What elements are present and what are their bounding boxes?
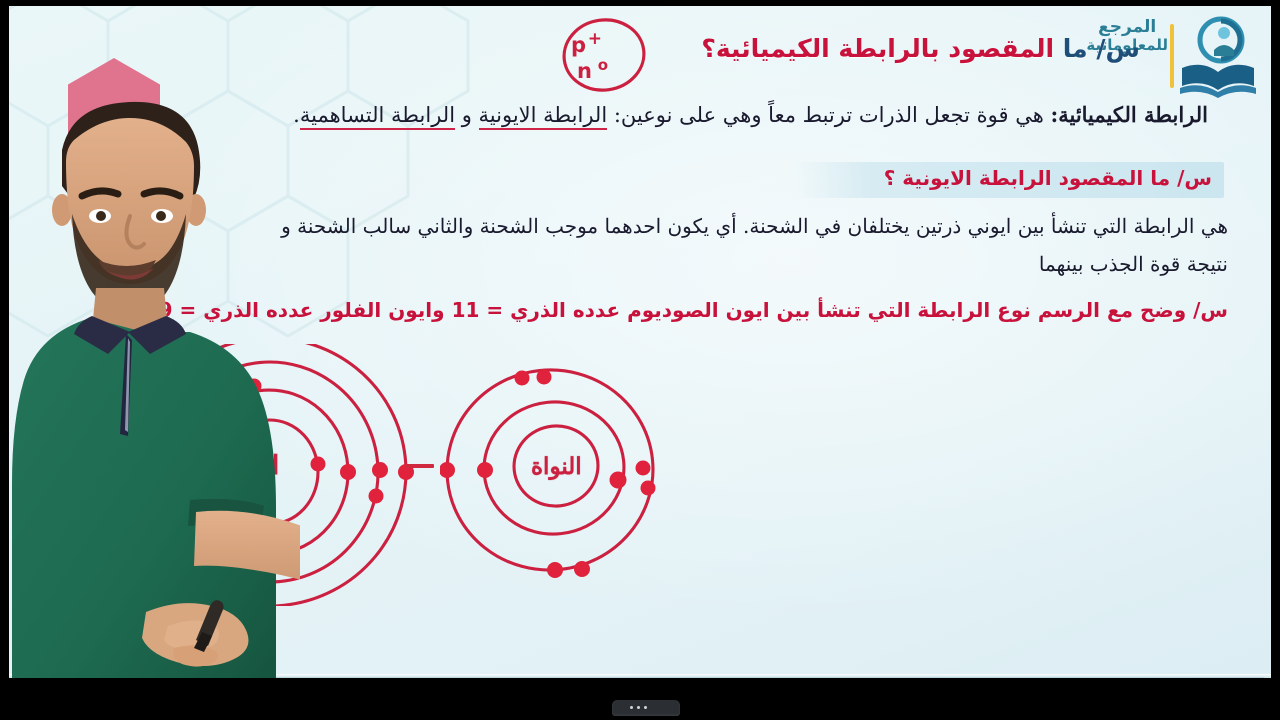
letterbox-right — [1271, 0, 1280, 720]
red-tick-mark — [406, 464, 434, 468]
definition-body: هي قوة تجعل الذرات ترتبط معاً وهي على نو… — [607, 103, 1050, 127]
bond-type-ionic: الرابطة الايونية — [479, 103, 608, 130]
answer-line-2: نتيجة قوة الجذب بينهما — [1039, 252, 1228, 276]
headline-text: المقصود بالرابطة الكيميائية؟ — [701, 34, 1054, 63]
chemical-bond-definition: الرابطة الكيميائية: هي قوة تجعل الذرات ت… — [293, 102, 1208, 127]
tray-holder-dots — [630, 706, 647, 709]
lesson-headline: س/ ما المقصود بالرابطة الكيميائية؟ — [701, 34, 1140, 63]
open-book-person-icon — [1174, 16, 1260, 98]
question-2-text: س/ وضح مع الرسم نوع الرابطة التي تنشأ بي… — [144, 298, 1228, 322]
letterbox-left — [0, 0, 9, 720]
presenter-figure — [0, 92, 300, 720]
definition-conjunction: و — [455, 103, 479, 127]
letterbox-top — [0, 0, 1280, 6]
bond-type-covalent: الرابطة التساهمية — [300, 103, 455, 130]
question-1-text: س/ ما المقصود الرابطة الايونية ؟ — [884, 166, 1212, 190]
nucleus-label-right: النواة — [531, 453, 582, 480]
video-frame: المرجع للمعلوماتية س/ ما المقصود بالرابط… — [0, 0, 1280, 720]
definition-label: الرابطة الكيميائية: — [1050, 102, 1208, 127]
answer-line-1: هي الرابطة التي تنشأ بين ايوني ذرتين يخت… — [281, 214, 1228, 238]
headline-prefix: س/ ما — [1054, 34, 1140, 63]
